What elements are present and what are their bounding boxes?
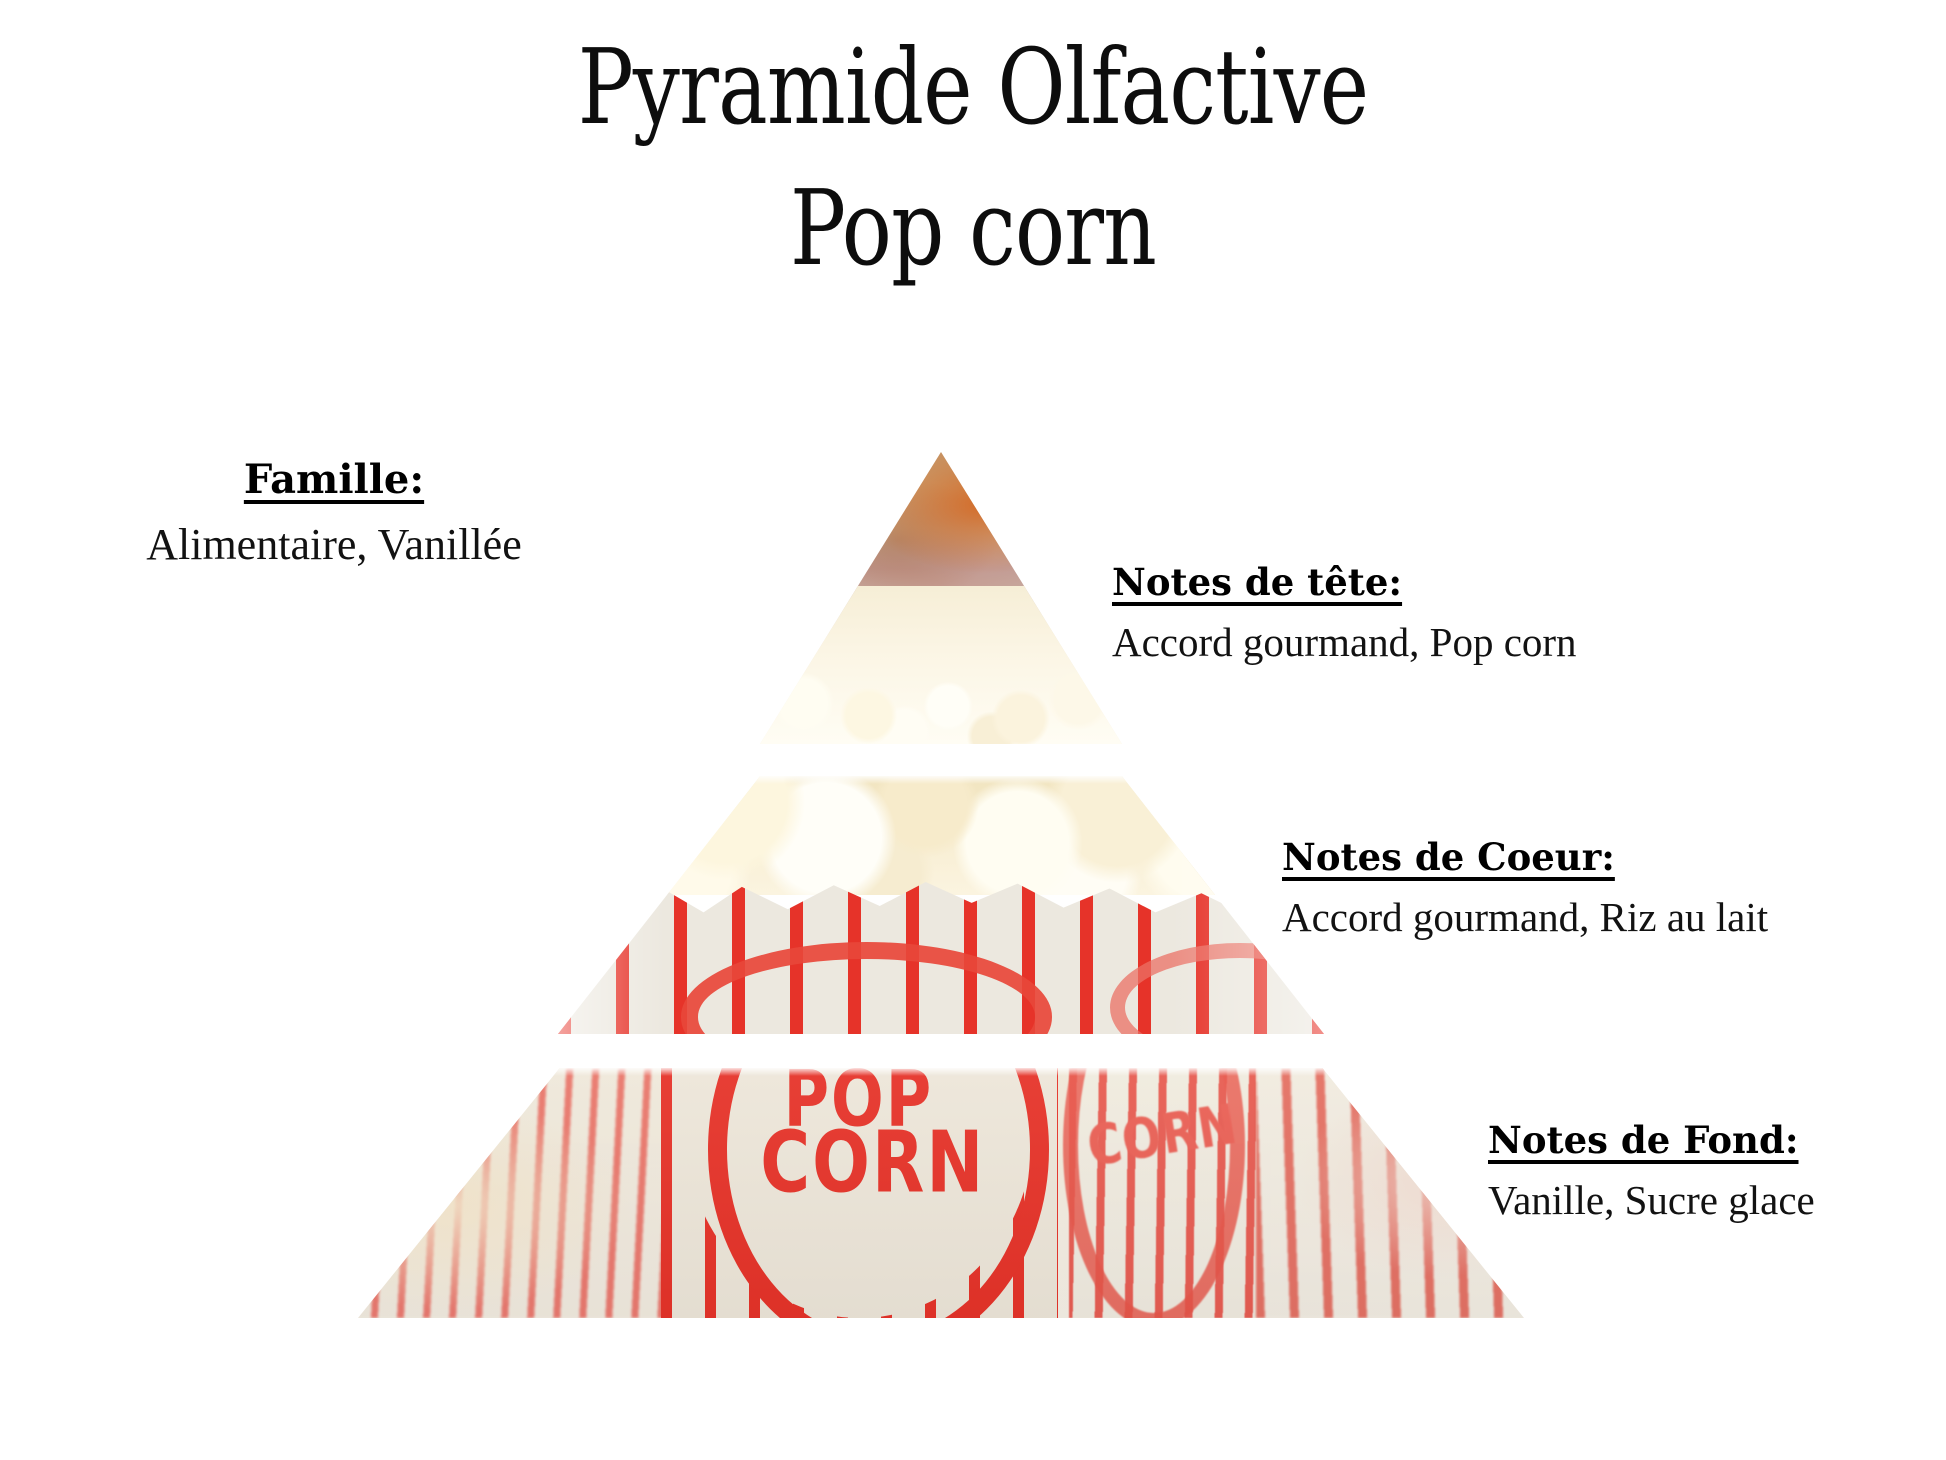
pop-corn-logo-ring	[708, 1068, 1049, 1318]
pyramid-tier-bottom: POP CORN CORN	[358, 1068, 1524, 1318]
popcorn-box-logo-ring-secondary	[1110, 943, 1324, 1034]
notes-de-tete-heading: Notes de tête:	[1112, 560, 1402, 604]
pop-corn-logo-text-corn: CORN	[760, 1114, 985, 1213]
notes-de-fond-value: Vanille, Sucre glace	[1488, 1176, 1815, 1224]
pop-corn-logo-ring-right	[1063, 1068, 1245, 1318]
famille-block: Famille: Alimentaire, Vanillée	[28, 456, 640, 570]
popcorn-box-logo-ring	[681, 942, 1052, 1034]
famille-heading: Famille:	[244, 456, 424, 503]
popcorn-box-striped	[558, 874, 1324, 1034]
box-base-surface	[358, 1068, 1524, 1318]
page-title-line-2: Pop corn	[195, 167, 1752, 290]
box-side-panel-right	[1069, 1068, 1256, 1318]
tier-bottom-fade	[358, 1068, 1524, 1076]
pyramid-tier-middle	[558, 776, 1324, 1034]
famille-value: Alimentaire, Vanillée	[28, 519, 640, 570]
popcorn-kernels-image	[760, 586, 1122, 744]
notes-de-tete-value: Accord gourmand, Pop corn	[1112, 618, 1577, 666]
box-front-panel	[661, 1068, 1057, 1318]
popcorn-fill-image	[558, 776, 1324, 895]
notes-de-fond-heading: Notes de Fond:	[1488, 1118, 1799, 1162]
notes-de-coeur-heading: Notes de Coeur:	[1282, 835, 1615, 879]
pyramid-tier-top	[760, 452, 1122, 744]
box-far-panel-right	[1256, 1068, 1524, 1318]
page-title-line-1: Pyramide Olfactive	[195, 26, 1752, 149]
notes-de-coeur-value: Accord gourmand, Riz au lait	[1282, 893, 1768, 941]
tier-top-fade	[558, 776, 1324, 784]
pop-corn-logo-text-corn-right: CORN	[1083, 1091, 1242, 1179]
depth-of-field-overlay	[358, 1068, 1524, 1318]
box-stripes-left	[358, 1068, 684, 1318]
popcorn-closeup-image	[760, 452, 1122, 744]
notes-de-fond-block: Notes de Fond: Vanille, Sucre glace	[1488, 1118, 1815, 1224]
notes-de-tete-block: Notes de tête: Accord gourmand, Pop corn	[1112, 560, 1577, 666]
box-shading-overlay	[558, 776, 1324, 1034]
notes-de-coeur-block: Notes de Coeur: Accord gourmand, Riz au …	[1282, 835, 1768, 941]
page-title: Pyramide Olfactive Pop corn	[0, 26, 1946, 289]
pop-corn-logo-text-pop: POP	[784, 1068, 934, 1144]
